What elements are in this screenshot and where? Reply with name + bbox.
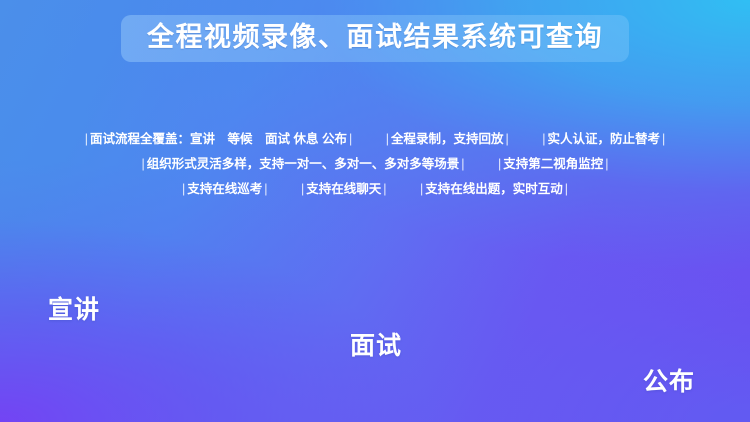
feature-label: 支持在线出题，实时互动 xyxy=(425,182,563,196)
poster-canvas: 全程视频录像、面试结果系统可查询 |面试流程全覆盖：宣讲 等候 面试 休息 公布… xyxy=(0,0,750,422)
pipe-right: | xyxy=(262,182,269,196)
page-title: 全程视频录像、面试结果系统可查询 xyxy=(147,22,603,52)
pipe-right: | xyxy=(381,182,388,196)
pipe-left: | xyxy=(418,182,425,196)
stage-label-interview: 面试 xyxy=(350,326,750,362)
feature-chip: |全程录制，支持回放| xyxy=(384,127,511,152)
title-band: 全程视频录像、面试结果系统可查询 xyxy=(121,15,629,62)
pipe-left: | xyxy=(180,182,187,196)
pipe-right: | xyxy=(347,132,354,146)
pipe-left: | xyxy=(540,132,547,146)
pipe-right: | xyxy=(603,157,610,171)
feature-chip: |支持第二视角监控| xyxy=(496,152,611,177)
title-area: 全程视频录像、面试结果系统可查询 xyxy=(0,15,750,62)
feature-chip: |组织形式灵活多样，支持一对一、多对一、多对多等场景| xyxy=(139,152,466,177)
feature-row: |支持在线巡考| |支持在线聊天| |支持在线出题，实时互动| xyxy=(0,177,750,202)
feature-list: |面试流程全覆盖：宣讲 等候 面试 休息 公布| |全程录制，支持回放| |实人… xyxy=(0,127,750,202)
feature-row: |面试流程全覆盖：宣讲 等候 面试 休息 公布| |全程录制，支持回放| |实人… xyxy=(0,127,750,152)
pipe-left: | xyxy=(384,132,391,146)
pipe-left: | xyxy=(83,132,90,146)
feature-label: 全程录制，支持回放 xyxy=(391,132,504,146)
feature-chip: |面试流程全覆盖：宣讲 等候 面试 休息 公布| xyxy=(83,127,354,152)
pipe-left: | xyxy=(496,157,503,171)
stage-label-publish: 公布 xyxy=(643,362,750,398)
feature-chip: |支持在线出题，实时互动| xyxy=(418,177,570,202)
feature-label: 面试流程全覆盖：宣讲 等候 面试 休息 公布 xyxy=(90,132,347,146)
feature-chip: |支持在线聊天| xyxy=(299,177,389,202)
feature-label: 支持第二视角监控 xyxy=(503,157,603,171)
pipe-right: | xyxy=(563,182,570,196)
feature-label: 组织形式灵活多样，支持一对一、多对一、多对多等场景 xyxy=(147,157,460,171)
feature-label: 支持在线巡考 xyxy=(187,182,262,196)
pipe-right: | xyxy=(459,157,466,171)
feature-label: 实人认证，防止替考 xyxy=(547,132,660,146)
stage-label-intro: 宣讲 xyxy=(48,290,750,326)
pipe-right: | xyxy=(503,132,510,146)
feature-label: 支持在线聊天 xyxy=(306,182,381,196)
pipe-left: | xyxy=(299,182,306,196)
pipe-left: | xyxy=(139,157,146,171)
feature-chip: |支持在线巡考| xyxy=(180,177,270,202)
pipe-right: | xyxy=(660,132,667,146)
feature-row: |组织形式灵活多样，支持一对一、多对一、多对多等场景| |支持第二视角监控| xyxy=(0,152,750,177)
feature-chip: |实人认证，防止替考| xyxy=(540,127,667,152)
